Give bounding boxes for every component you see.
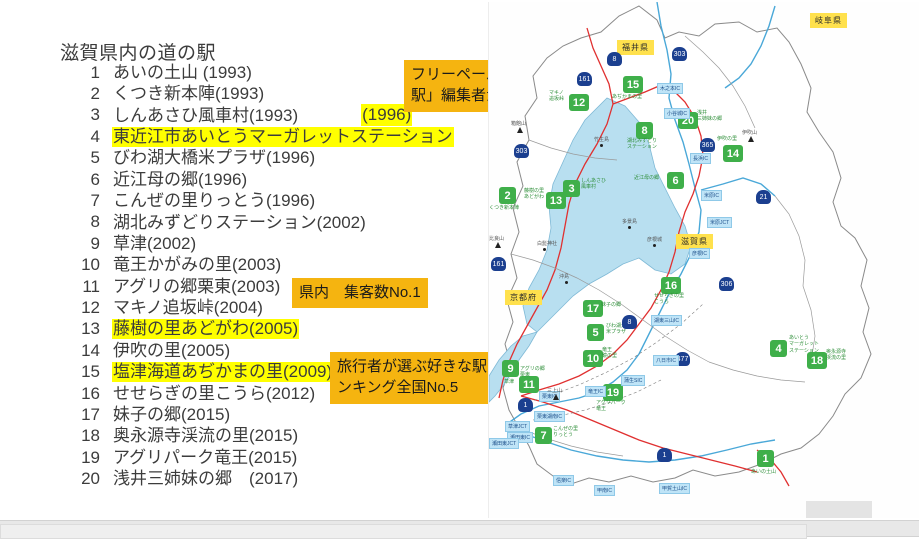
map-place-label: 白髭神社 [537,240,557,247]
map-station-marker[interactable]: 1 [757,450,774,467]
list-item-number: 5 [60,148,112,168]
list-item-name: くつき新本陣(1993) [112,84,265,104]
interchange-label: 栗東湖南IC [534,411,565,422]
map-place-dot [653,244,656,247]
interchange-label: 湖東三山IC [651,315,682,326]
list-item-name: こんぜの里りっとう(1996) [112,191,316,211]
interchange-label: 長浜IC [690,153,711,164]
map-station-caption: 近江母の郷 [634,175,659,181]
map-station-caption: あぢかまの里 [612,94,642,100]
map-station-marker[interactable]: 16 [661,277,681,294]
route-shield-icon: 1 [657,448,672,462]
list-item: 18奥永源寺渓流の里(2015) [60,426,480,447]
map-station-caption: 竜王 鏡の里 [602,347,617,360]
map-place-dot [628,226,631,229]
map-station-marker[interactable]: 9 [502,360,519,377]
slide-canvas: 滋賀県内の道の駅 1あいの土山 (1993)2くつき新本陣(1993)3しんあさ… [0,0,919,518]
prefecture-label: 京都府 [505,290,542,305]
station-list-panel: 滋賀県内の道の駅 1あいの土山 (1993)2くつき新本陣(1993)3しんあさ… [0,0,488,518]
map-place-dot [543,248,546,251]
map-peak-label: 伊吹山 [742,129,757,136]
map-station-caption: せせらぎの里 こうら [654,293,684,306]
list-item-name: 東近江市あいとうマーガレットステーション [112,127,454,147]
list-item: 9草津(2002) [60,233,480,254]
station-list: 1あいの土山 (1993)2くつき新本陣(1993)3しんあさひ風車村(1993… [60,62,480,490]
route-shield-icon: 161 [577,72,592,86]
map-place-label: 沖島 [559,273,569,280]
list-item: 6近江母の郷(1996) [60,169,480,190]
map-station-caption: 浅井 三姉妹の郷 [697,110,722,123]
interchange-label: 甲賀土山IC [659,483,690,494]
map-station-caption: こんぜの里 りっとう [553,426,578,439]
list-item-number: 3 [60,105,112,125]
list-item: 10竜王かがみの里(2003) [60,255,480,276]
mountain-icon [553,394,559,400]
list-item: 8湖北みずどりステーション(2002) [60,212,480,233]
map-station-marker[interactable]: 12 [569,94,589,111]
list-item-number: 6 [60,170,112,190]
list-item-number: 4 [60,127,112,147]
list-item-name: 竜王かがみの里(2003) [112,255,282,275]
map-station-marker[interactable]: 4 [770,340,787,357]
map-peak-label: 三上山 [547,387,562,394]
list-item-number: 9 [60,234,112,254]
page-title: 滋賀県内の道の駅 [60,38,216,65]
list-item: 7こんぜの里りっとう(1996) [60,190,480,211]
route-shield-icon: 365 [700,138,715,152]
list-item-name: 伊吹の里(2005) [112,341,231,361]
map-station-marker[interactable]: 13 [546,192,566,209]
map-station-marker[interactable]: 14 [723,145,743,162]
interchange-label: 木之本IC [657,83,683,94]
map-station-caption: しんあさひ 風車村 [581,178,606,191]
map-station-marker[interactable]: 15 [623,76,643,93]
map-station-caption: 妹子の郷 [601,302,621,308]
shiga-map-panel: 福井県岐阜県滋賀県京都府三重県1あいの土山2くつき新本陣3しんあさひ 風車村4あ… [488,2,919,518]
route-shield-icon: 306 [719,277,734,291]
map-station-caption: 草津 [504,379,514,385]
map-station-caption: 藤樹の里 あどがわ [524,188,544,201]
map-place-dot [565,281,568,284]
route-shield-icon: 21 [756,190,771,204]
list-item-name: 妹子の郷(2015) [112,405,231,425]
map-station-caption: マキノ 追坂峠 [549,90,564,103]
mountain-icon [748,136,754,142]
interchange-label: 蒲生SIC [621,375,645,386]
list-item-number: 20 [60,469,112,489]
prefecture-label: 滋賀県 [676,234,713,249]
route-shield-icon: 303 [514,144,529,158]
horizontal-scrollbar[interactable] [0,518,919,539]
route-shield-icon: 161 [491,257,506,271]
list-item-number: 1 [60,63,112,83]
map-station-caption: 伊吹の里 [717,136,737,142]
list-item-number: 17 [60,405,112,425]
map-station-marker[interactable]: 11 [519,376,539,393]
list-item-name: 藤樹の里あどがわ(2005) [112,319,299,339]
interchange-label: 米原IC [701,190,722,201]
interchange-label: 信楽IC [553,475,574,486]
map-station-caption: アグリパーク 竜王 [596,400,626,413]
map-graphic [489,2,919,518]
scrollbar-thumb[interactable] [0,524,807,539]
list-item: 13藤樹の里あどがわ(2005) [60,319,480,340]
interchange-label: 小谷城IC [664,108,690,119]
list-item-name: マキノ追坂峠(2004) [112,298,264,318]
map-station-caption: くつき新本陣 [489,205,519,211]
route-shield-icon: 1 [518,398,533,412]
list-item-number: 10 [60,255,112,275]
map-station-marker[interactable]: 6 [667,172,684,189]
list-item-name: 浅井三姉妹の郷 (2017) [112,469,299,489]
map-station-caption: あいとう マーガレット ステーション [789,335,819,354]
interchange-label: 甲南IC [594,485,615,496]
list-item-name: しんあさひ風車村(1993) [112,106,299,126]
map-station-marker[interactable]: 2 [499,187,516,204]
list-item: 19アグリパーク竜王(2015) [60,447,480,468]
interchange-label: 米原JCT [707,217,732,228]
list-item-number: 18 [60,426,112,446]
route-shield-icon: 8 [607,52,622,66]
list-item-name: 草津(2002) [112,234,197,254]
map-peak-label: 箱館山 [511,120,526,127]
map-place-label: 彦根城 [647,236,662,243]
list-item: 17妹子の郷(2015) [60,404,480,425]
interchange-label: 彦根IC [689,248,710,259]
list-item-name: 湖北みずどりステーション(2002) [112,213,367,233]
list-item-number: 14 [60,341,112,361]
list-item-name: あいの土山 (1993) [112,63,253,83]
interchange-label: 竜王IC [585,386,606,397]
list-item-name: 塩津海道あぢかまの里(2009) [112,362,333,382]
list-item-number: 2 [60,84,112,104]
list-item-number: 13 [60,319,112,339]
scrollbar-track[interactable] [0,520,919,537]
map-station-marker[interactable]: 17 [583,300,603,317]
prefecture-label: 福井県 [617,40,654,55]
interchange-label: 八日市IC [653,355,679,366]
list-item-name: アグリの郷栗東(2003) [112,277,281,297]
list-item-number: 16 [60,384,112,404]
list-item-number: 8 [60,212,112,232]
mountain-icon [517,127,523,133]
list-item: 20浅井三姉妹の郷 (2017) [60,468,480,489]
list-item-name: びわ湖大橋米プラザ(1996) [112,148,316,168]
map-station-caption: 奥永源寺 渓流の里 [826,349,846,362]
map-station-marker[interactable]: 7 [535,427,552,444]
map-station-caption: 湖北みずどり ステーション [627,138,657,151]
list-item-number: 11 [60,277,112,297]
list-item: 5びわ湖大橋米プラザ(1996) [60,148,480,169]
interchange-label: 瀬田東JCT [489,438,519,449]
list-item: 4東近江市あいとうマーガレットステーション [60,126,480,147]
map-station-caption: あいの土山 [751,469,776,475]
map-station-caption: アグリの郷 栗東 [520,366,545,379]
slide-corner-box [806,501,872,518]
map-station-marker[interactable]: 10 [583,350,603,367]
callout-prefecture-top: 県内 集客数No.1 [292,278,428,308]
map-station-marker[interactable]: 8 [636,122,653,139]
map-place-label: 多景島 [622,218,637,225]
mountain-icon [495,242,501,248]
interchange-label: 草津JCT [505,421,530,432]
list-item-number: 7 [60,191,112,211]
map-station-marker[interactable]: 18 [807,352,827,369]
map-place-label: 竹生島 [594,136,609,143]
map-peak-label: 比良山 [489,235,504,242]
list-item-name: アグリパーク竜王(2015) [112,448,298,468]
prefecture-label: 岐阜県 [810,13,847,28]
list-item-name: 奥永源寺渓流の里(2015) [112,426,299,446]
map-place-dot [600,144,603,147]
route-shield-icon: 303 [672,47,687,61]
list-item-number: 19 [60,448,112,468]
list-item-number: 15 [60,362,112,382]
route-shield-icon: 8 [622,315,637,329]
list-item-name: 近江母の郷(1996) [112,170,248,190]
list-item-number: 12 [60,298,112,318]
map-station-marker[interactable]: 5 [587,324,604,341]
list-item-name: せせらぎの里こうら(2012) [112,384,316,404]
